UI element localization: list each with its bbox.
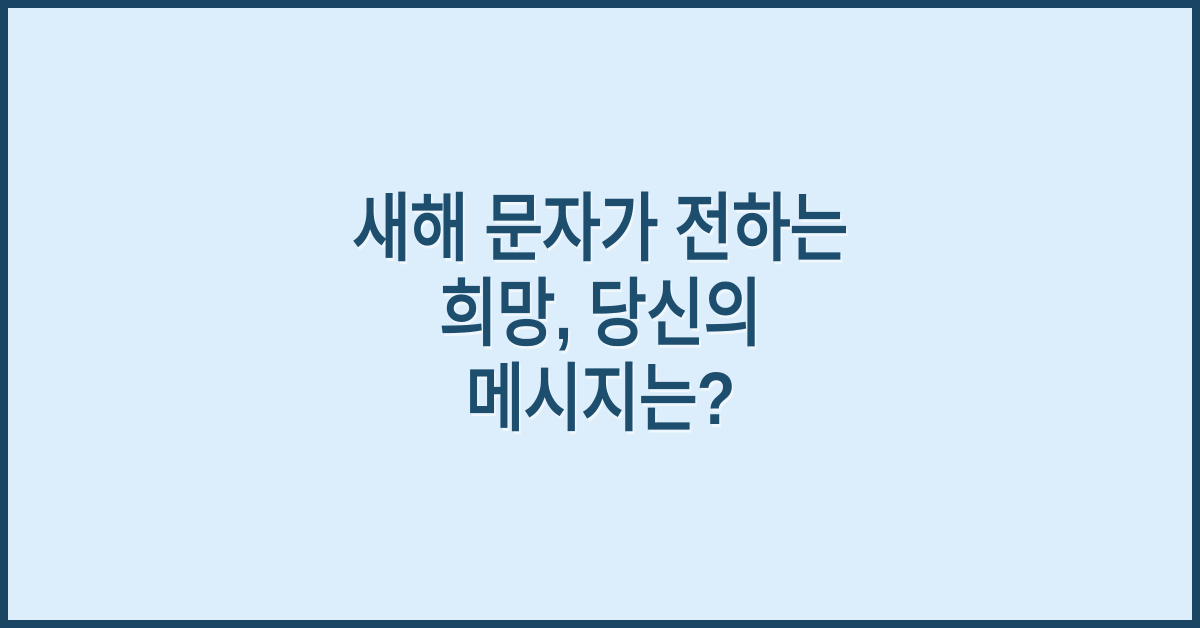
headline-line-2: 희망, 당신의 [439, 271, 761, 356]
poster-canvas: 새해 문자가 전하는 희망, 당신의 메시지는? [0, 0, 1200, 628]
headline-block: 새해 문자가 전하는 희망, 당신의 메시지는? [8, 186, 1192, 441]
headline-line-1: 새해 문자가 전하는 [352, 186, 847, 271]
headline-line-3: 메시지는? [466, 356, 735, 441]
